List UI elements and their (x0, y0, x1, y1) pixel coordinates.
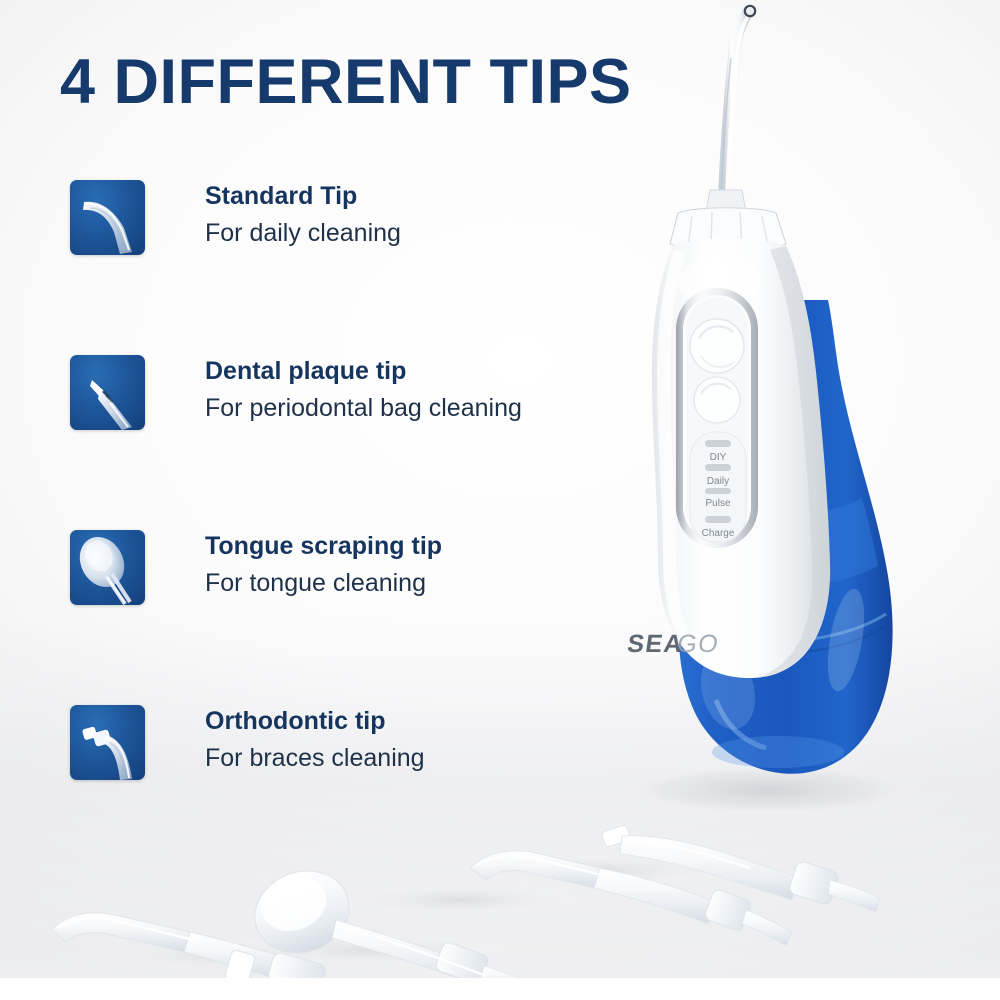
control-panel: DIY Daily Pulse Charge (676, 288, 758, 548)
standard-tip-icon (70, 180, 145, 255)
feature-text: Orthodontic tip For braces cleaning (205, 707, 635, 773)
mode-led-pulse (705, 488, 731, 494)
charge-led (705, 516, 731, 523)
bottom-white-strip (0, 978, 1000, 1000)
feature-row: Standard Tip For daily cleaning (70, 180, 630, 355)
feature-subtitle: For braces cleaning (205, 744, 635, 774)
mode-label-diy: DIY (710, 452, 727, 463)
loose-nozzle-tips-group (40, 780, 940, 990)
mode-led-daily (705, 464, 731, 471)
feature-text: Standard Tip For daily cleaning (205, 182, 635, 248)
feature-title: Standard Tip (205, 182, 635, 212)
mode-label-daily: Daily (707, 476, 729, 487)
product-feature-image: 4 DIFFERENT TIPS (0, 0, 1000, 1000)
mode-button (694, 377, 740, 423)
charge-label: Charge (702, 528, 735, 539)
feature-row: Dental plaque tip For periodontal bag cl… (70, 355, 630, 530)
tongue-scraping-tip-icon (70, 530, 145, 605)
feature-title: Tongue scraping tip (205, 532, 635, 562)
power-button (690, 319, 744, 373)
feature-subtitle: For periodontal bag cleaning (205, 394, 635, 424)
nozzle-opening (745, 6, 755, 16)
feature-subtitle: For tongue cleaning (205, 569, 635, 599)
page-title: 4 DIFFERENT TIPS (60, 46, 632, 118)
orthodontic-tip-icon (70, 705, 145, 780)
feature-row: Tongue scraping tip For tongue cleaning (70, 530, 630, 705)
spray-nozzle (721, 6, 755, 196)
mode-label-pulse: Pulse (705, 498, 730, 509)
dental-plaque-tip-icon (70, 355, 145, 430)
mode-led-diy (705, 440, 731, 447)
mode-indicator-group: DIY Daily Pulse Charge (690, 432, 746, 542)
feature-text: Tongue scraping tip For tongue cleaning (205, 532, 635, 598)
feature-subtitle: For daily cleaning (205, 219, 635, 249)
feature-text: Dental plaque tip For periodontal bag cl… (205, 357, 635, 423)
feature-title: Orthodontic tip (205, 707, 635, 737)
feature-title: Dental plaque tip (205, 357, 635, 387)
water-flosser-device: DIY Daily Pulse Charge SEA GO (600, 0, 930, 810)
feature-list: Standard Tip For daily cleaning (70, 180, 630, 880)
brand-logo: SEA GO (626, 630, 722, 658)
